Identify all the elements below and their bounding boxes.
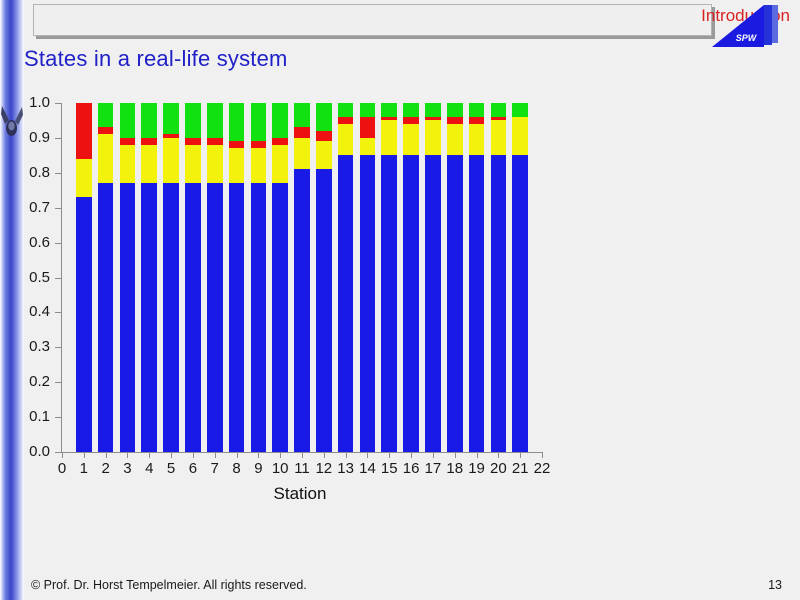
bar-segment-blue [207,183,223,452]
bar-segment-yellow [425,120,441,155]
y-tick [55,243,61,244]
bar-segment-red [141,138,157,145]
x-tick [302,452,303,458]
x-tick [498,452,499,458]
bar-segment-blue [360,155,376,452]
bar-segment-green [381,103,397,117]
x-tick [237,452,238,458]
bar-segment-yellow [491,120,507,155]
y-tick [55,103,61,104]
bar-station-9 [251,103,267,452]
bar-segment-yellow [251,148,267,183]
bar-segment-blue [512,155,528,452]
bar-segment-blue [185,183,201,452]
bar-station-8 [229,103,245,452]
bar-station-7 [207,103,223,452]
bar-segment-blue [381,155,397,452]
bar-segment-yellow [76,159,92,197]
bar-segment-red [120,138,136,145]
x-axis-title: Station [0,484,600,504]
bar-segment-green [163,103,179,134]
bar-segment-yellow [98,134,114,183]
y-tick [55,382,61,383]
bar-segment-yellow [207,145,223,183]
bar-segment-green [403,103,419,117]
y-tick-label: 0.4 [8,303,50,320]
y-tick-label: 0.6 [8,234,50,251]
bar-segment-red [338,117,354,124]
y-tick [55,138,61,139]
bar-segment-red [425,117,441,120]
x-tick [258,452,259,458]
x-tick [542,452,543,458]
plot-area [62,103,542,452]
bar-segment-blue [141,183,157,452]
bar-segment-yellow [447,124,463,155]
x-tick [455,452,456,458]
bar-segment-yellow [360,138,376,155]
bar-segment-blue [76,197,92,452]
bar-segment-red [360,117,376,138]
x-tick [149,452,150,458]
stacked-bar-chart: 0.00.10.20.30.40.50.60.70.80.91.0 012345… [0,86,600,506]
bar-segment-red [491,117,507,120]
bar-segment-red [163,134,179,137]
bar-station-13 [338,103,354,452]
bar-segment-red [469,117,485,124]
bar-station-3 [120,103,136,452]
bar-station-19 [469,103,485,452]
bar-segment-blue [316,169,332,452]
bar-segment-yellow [469,124,485,155]
bar-segment-yellow [381,120,397,155]
bar-segment-blue [98,183,114,452]
y-tick-label: 0.1 [8,408,50,425]
bar-segment-green [360,103,376,117]
y-tick [55,208,61,209]
bar-station-16 [403,103,419,452]
x-tick [280,452,281,458]
bar-segment-green [294,103,310,127]
y-tick [55,278,61,279]
bar-segment-green [185,103,201,138]
y-tick [55,452,61,453]
bar-segment-green [272,103,288,138]
bar-station-5 [163,103,179,452]
x-tick [324,452,325,458]
bar-station-14 [360,103,376,452]
bar-segment-blue [120,183,136,452]
bar-segment-red [403,117,419,124]
bar-station-2 [98,103,114,452]
x-tick [84,452,85,458]
bar-segment-blue [425,155,441,452]
bar-segment-yellow [141,145,157,183]
bar-station-4 [141,103,157,452]
bar-segment-green [229,103,245,141]
bar-segment-blue [229,183,245,452]
y-tick [55,173,61,174]
page-title: States in a real-life system [24,46,288,72]
x-tick [520,452,521,458]
y-tick-label: 0.3 [8,338,50,355]
x-tick [106,452,107,458]
bar-segment-green [512,103,528,117]
bar-segment-green [447,103,463,117]
y-tick [55,417,61,418]
x-tick [171,452,172,458]
y-tick-label: 0.8 [8,164,50,181]
bar-segment-blue [403,155,419,452]
bar-station-12 [316,103,332,452]
bar-segment-blue [272,183,288,452]
y-tick-label: 0.0 [8,443,50,460]
bar-station-15 [381,103,397,452]
bar-segment-blue [469,155,485,452]
bar-segment-yellow [316,141,332,169]
x-tick [127,452,128,458]
bar-station-17 [425,103,441,452]
bar-segment-red [76,103,92,159]
bar-segment-red [185,138,201,145]
x-tick-label: 22 [529,460,555,477]
bar-segment-blue [447,155,463,452]
x-tick [389,452,390,458]
header-bar [33,4,712,36]
bar-segment-blue [294,169,310,452]
bar-station-10 [272,103,288,452]
bar-segment-green [98,103,114,127]
y-tick [55,312,61,313]
x-tick [411,452,412,458]
bar-segment-yellow [294,138,310,169]
bar-segment-blue [491,155,507,452]
bar-segment-green [338,103,354,117]
x-tick [433,452,434,458]
bar-segment-green [316,103,332,131]
bar-segment-blue [338,155,354,452]
bar-segment-green [141,103,157,138]
bar-station-1 [76,103,92,452]
y-tick-label: 0.7 [8,199,50,216]
bar-station-11 [294,103,310,452]
x-tick [367,452,368,458]
bar-segment-yellow [512,117,528,155]
bar-segment-red [272,138,288,145]
bar-segment-yellow [120,145,136,183]
bar-segment-yellow [163,138,179,183]
bar-segment-red [294,127,310,137]
x-tick [215,452,216,458]
x-tick [477,452,478,458]
spw-logo-icon: SPW [706,3,794,49]
bar-segment-yellow [272,145,288,183]
footer-copyright: © Prof. Dr. Horst Tempelmeier. All right… [31,578,307,592]
bar-segment-red [316,131,332,141]
bar-segment-blue [251,183,267,452]
bar-segment-green [491,103,507,117]
bar-segment-red [447,117,463,124]
bar-segment-green [469,103,485,117]
bar-station-21 [512,103,528,452]
bar-segment-yellow [338,124,354,155]
bar-segment-red [98,127,114,134]
bar-segment-green [207,103,223,138]
bar-station-20 [491,103,507,452]
bar-segment-red [381,117,397,120]
x-tick [62,452,63,458]
y-tick-label: 1.0 [8,94,50,111]
bar-segment-green [425,103,441,117]
bar-segment-blue [163,183,179,452]
bar-segment-green [120,103,136,138]
svg-text:SPW: SPW [736,33,758,43]
bar-segment-yellow [403,124,419,155]
footer-page-number: 13 [768,578,782,592]
bar-segment-yellow [185,145,201,183]
y-tick-label: 0.9 [8,129,50,146]
bar-segment-yellow [229,148,245,183]
x-tick [346,452,347,458]
bar-station-18 [447,103,463,452]
x-tick [193,452,194,458]
y-tick-label: 0.2 [8,373,50,390]
bar-segment-red [207,138,223,145]
bar-segment-red [251,141,267,148]
y-tick [55,347,61,348]
bar-segment-green [251,103,267,141]
bar-station-6 [185,103,201,452]
bar-segment-red [229,141,245,148]
y-tick-label: 0.5 [8,269,50,286]
